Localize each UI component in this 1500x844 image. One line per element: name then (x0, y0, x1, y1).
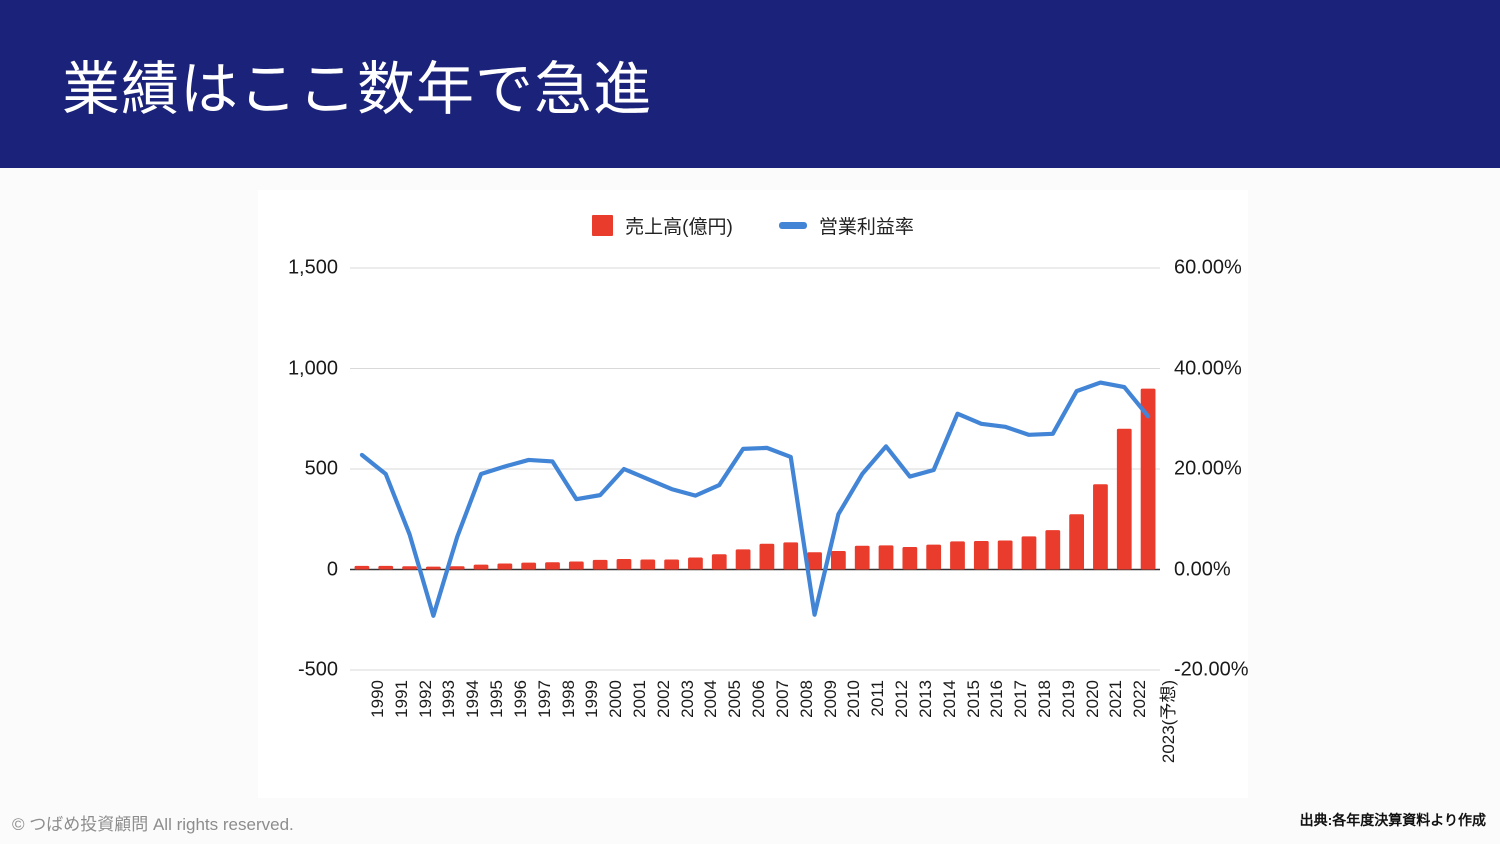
chart-card: 売上高(億円) 営業利益率 -50005001,0001,500-20.00%0… (258, 190, 1248, 798)
x-axis-tick-1999: 1999 (582, 670, 602, 718)
x-axis-tick-1996: 1996 (511, 670, 531, 718)
x-axis-tick-1998: 1998 (559, 670, 579, 718)
bar-1990 (355, 566, 370, 570)
x-axis-tick-2016: 2016 (987, 670, 1007, 718)
bar-2004 (688, 557, 703, 569)
x-axis-tick-1992: 1992 (416, 670, 436, 718)
x-axis-tick-2009: 2009 (821, 670, 841, 718)
x-axis-tick-2013: 2013 (916, 670, 936, 718)
y-axis-left-tick: 1,500 (288, 257, 338, 280)
y-axis-left-tick: -500 (298, 659, 338, 682)
x-axis-tick-2021: 2021 (1106, 670, 1126, 718)
x-axis-tick-1995: 1995 (487, 670, 507, 718)
y-axis-right-tick: -20.00% (1174, 659, 1249, 682)
y-axis-left-tick: 1,000 (288, 357, 338, 380)
x-axis-tick-2006: 2006 (749, 670, 769, 718)
bar-2021 (1093, 484, 1108, 569)
copyright-text: © つばめ投資顧問 All rights reserved. (12, 810, 294, 835)
x-axis-tick-2000: 2000 (606, 670, 626, 718)
bar-2020 (1069, 514, 1084, 569)
x-axis-tick-2015: 2015 (964, 670, 984, 718)
y-axis-left-tick: 0 (327, 558, 338, 581)
operating-margin-line (362, 383, 1148, 616)
x-axis-tick-2018: 2018 (1035, 670, 1055, 718)
plot-area: -50005001,0001,500-20.00%0.00%20.00%40.0… (350, 268, 1160, 670)
y-axis-right-tick: 60.00% (1174, 257, 1242, 280)
x-axis-tick-2020: 2020 (1083, 670, 1103, 718)
x-axis-tick-2003: 2003 (678, 670, 698, 718)
bar-1991 (378, 566, 393, 570)
bar-1994 (450, 566, 465, 569)
x-axis-tick-2007: 2007 (773, 670, 793, 718)
bar-2001 (617, 559, 632, 569)
bar-1999 (569, 561, 584, 569)
y-axis-right-tick: 20.00% (1174, 458, 1242, 481)
bar-2014 (926, 545, 941, 570)
bar-2019 (1045, 530, 1060, 569)
bar-2012 (879, 545, 894, 569)
bar-2005 (712, 554, 727, 569)
x-axis-tick-1990: 1990 (368, 670, 388, 718)
x-axis-tick-2004: 2004 (701, 670, 721, 718)
bar-2006 (736, 549, 751, 569)
bar-2003 (664, 559, 679, 569)
x-axis-tick-2001: 2001 (630, 670, 650, 718)
bar-2008 (783, 542, 798, 569)
y-axis-right-tick: 40.00% (1174, 357, 1242, 380)
y-axis-right-tick: 0.00% (1174, 558, 1231, 581)
bar-2022 (1117, 429, 1132, 570)
x-axis-tick-2017: 2017 (1011, 670, 1031, 718)
bar-2016 (974, 541, 989, 570)
x-axis-tick-1993: 1993 (439, 670, 459, 718)
bar-2010 (831, 551, 846, 569)
bar-2002 (640, 559, 655, 569)
x-axis-tick-1991: 1991 (392, 670, 412, 718)
slide-header: 業績はここ数年で急進 (0, 0, 1500, 168)
page-title: 業績はここ数年で急進 (62, 56, 652, 124)
x-axis-tick-1997: 1997 (535, 670, 555, 718)
bar-2007 (760, 544, 775, 570)
bar-2017 (998, 541, 1013, 570)
chart-svg (350, 268, 1160, 670)
x-axis-tick-2012: 2012 (892, 670, 912, 718)
source-note: 出典:各年度決算資料より作成 (1300, 810, 1486, 830)
x-axis-tick-2010: 2010 (844, 670, 864, 718)
x-axis-tick-2023(予想): 2023(予想) (1154, 670, 1179, 763)
x-axis-tick-2014: 2014 (940, 670, 960, 718)
bar-2015 (950, 541, 965, 569)
x-axis-tick-2022: 2022 (1130, 670, 1150, 718)
x-axis-tick-2005: 2005 (725, 670, 745, 718)
bar-2000 (593, 560, 608, 570)
x-axis-tick-2008: 2008 (797, 670, 817, 718)
y-axis-left-tick: 500 (305, 458, 338, 481)
bar-1998 (545, 562, 560, 569)
bar-1993 (426, 567, 441, 570)
x-axis-tick-1994: 1994 (463, 670, 483, 718)
bar-1997 (521, 563, 536, 570)
x-axis-tick-2002: 2002 (654, 670, 674, 718)
x-axis-tick-2019: 2019 (1059, 670, 1079, 718)
x-axis-tick-2011: 2011 (868, 670, 888, 717)
plot-wrap: -50005001,0001,500-20.00%0.00%20.00%40.0… (258, 190, 1248, 798)
bar-2018 (1022, 536, 1037, 569)
slide: 業績はここ数年で急進 売上高(億円) 営業利益率 -50005001,0001,… (0, 0, 1500, 844)
bar-2011 (855, 546, 870, 570)
bar-1995 (474, 565, 489, 570)
bar-2013 (902, 547, 917, 570)
bar-1992 (402, 566, 417, 569)
bar-1996 (497, 563, 512, 569)
